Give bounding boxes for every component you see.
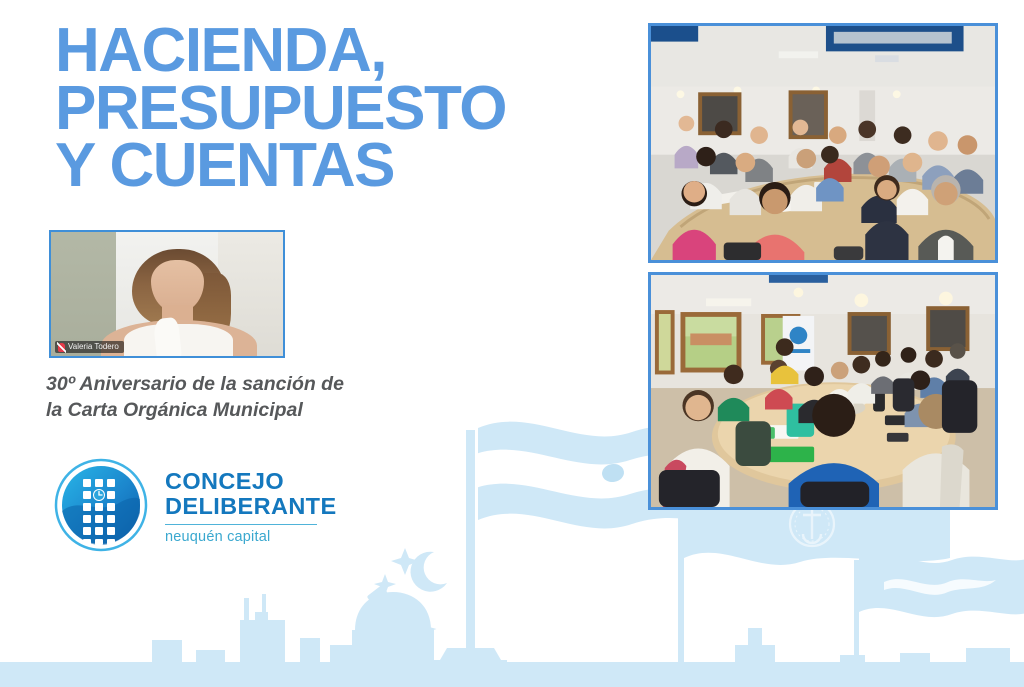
logo-wordmark: CONCEJO DELIBERANTE neuquén capital [165, 465, 337, 546]
participant-name-badge: Valeria Todero [55, 341, 124, 353]
headline-line-1: HACIENDA, [55, 22, 635, 80]
speaker-figure [130, 249, 227, 356]
muted-microphone-icon [58, 343, 65, 352]
headline-line-3: Y CUENTAS [55, 137, 635, 195]
photo-commission-meeting-top[interactable] [648, 23, 998, 263]
headline-line-2: PRESUPUESTO [55, 80, 635, 138]
page-title: HACIENDA, PRESUPUESTO Y CUENTAS [55, 22, 635, 195]
event-subtitle: 30º Aniversario de la sanción de la Cart… [46, 372, 446, 424]
concejo-deliberante-emblem [53, 457, 149, 553]
organization-logo: CONCEJO DELIBERANTE neuquén capital [53, 457, 337, 553]
logo-line-3: neuquén capital [165, 529, 337, 545]
logo-line-1: CONCEJO [165, 469, 337, 494]
slide-root: HACIENDA, PRESUPUESTO Y CUENTAS Valeria … [0, 0, 1024, 687]
photo-commission-meeting-bottom[interactable] [648, 272, 998, 510]
photo-bottom-content [651, 275, 995, 507]
logo-divider [165, 524, 317, 526]
subtitle-line-1: 30º Aniversario de la sanción de [46, 372, 446, 398]
photo-top-content [651, 26, 995, 260]
video-frame [51, 232, 283, 356]
logo-line-2: DELIBERANTE [165, 494, 337, 519]
clock-icon [93, 489, 105, 501]
participant-name: Valeria Todero [68, 342, 119, 352]
speaker-video-tile[interactable]: Valeria Todero [49, 230, 285, 358]
subtitle-line-2: la Carta Orgánica Municipal [46, 398, 446, 424]
